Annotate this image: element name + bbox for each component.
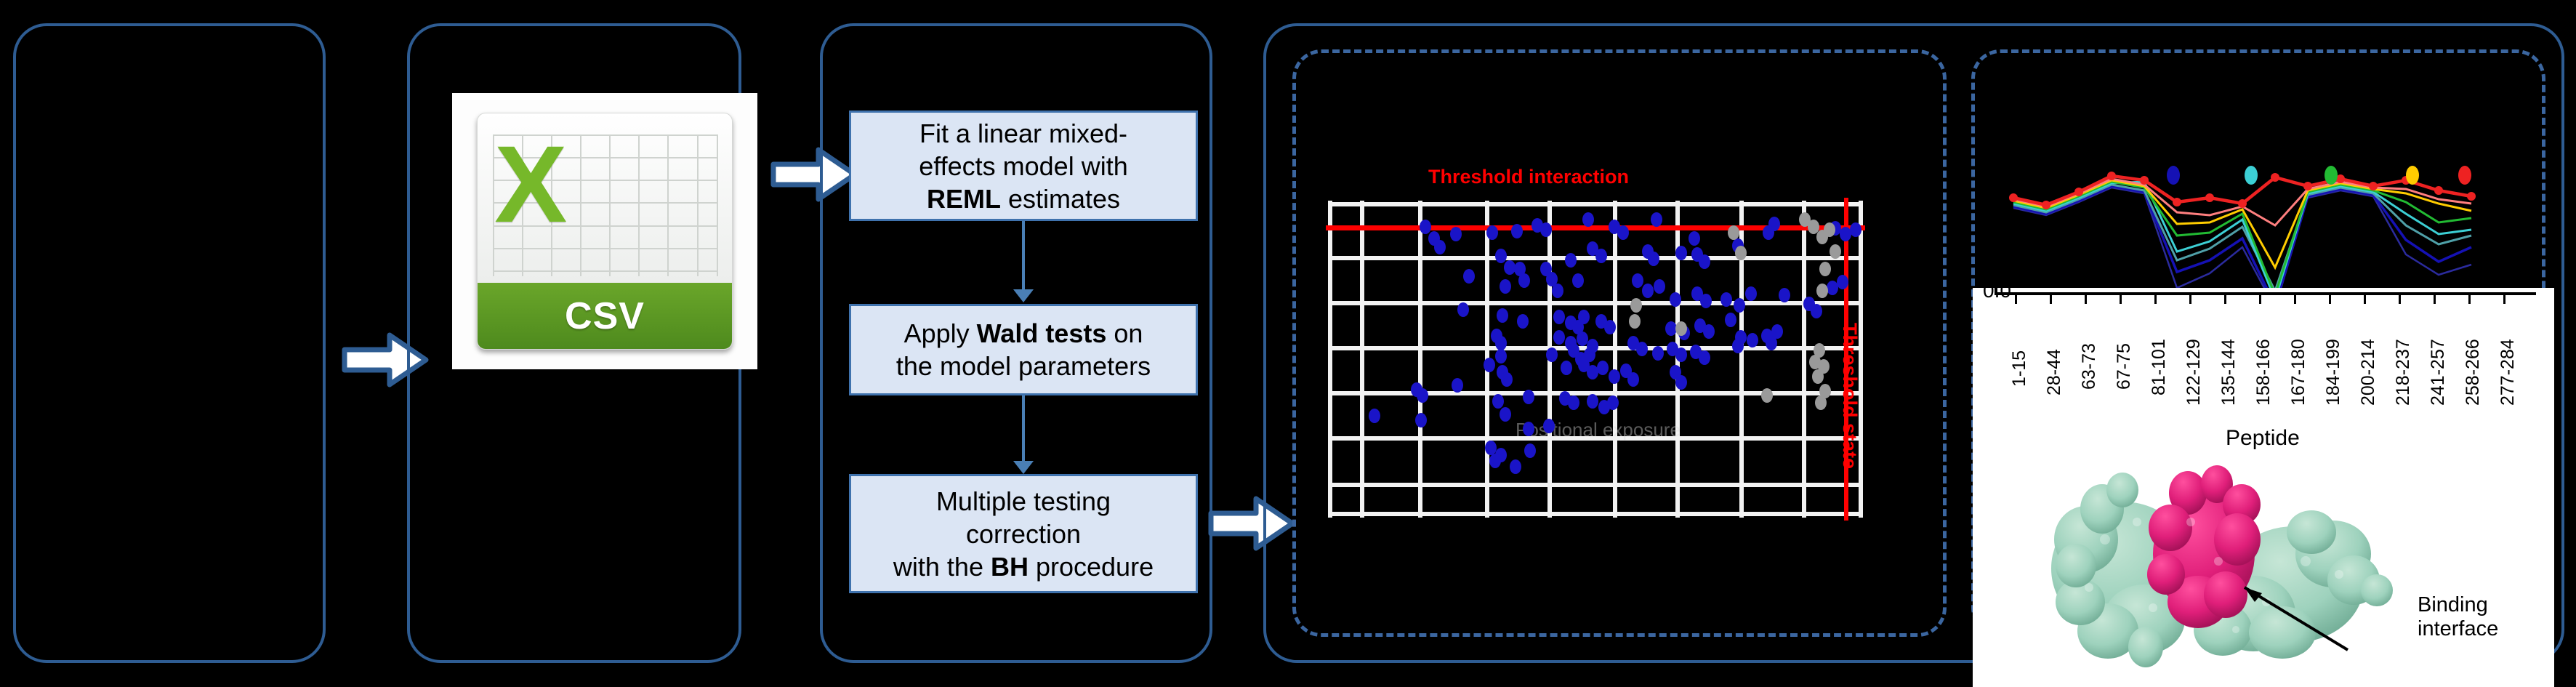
step-model-box[interactable]: Fit a linear mixed- effects model with R… (849, 111, 1198, 221)
binding-interface-line2: interface (2418, 617, 2498, 641)
x-axis-title: Peptide (2226, 426, 2300, 451)
x-tick-label: 67-75 (2114, 343, 2135, 390)
step-model-line1: Fit a linear mixed- (919, 117, 1127, 150)
y-axis-stub (1995, 288, 1997, 294)
legend-dot-2 (2245, 166, 2258, 185)
step-correction-line2: correction (966, 518, 1081, 550)
csv-file-card: X CSV (452, 93, 757, 369)
step-wald-pre: Apply (904, 318, 977, 348)
x-axis-line (1995, 292, 2536, 295)
binding-interface-line1: Binding (2418, 593, 2498, 617)
step-model-estimates: estimates (1001, 184, 1120, 214)
legend-dot-5 (2458, 166, 2471, 185)
x-tick-label: 167-180 (2288, 339, 2309, 406)
step-model-line3: REML estimates (927, 182, 1120, 215)
step-wald-post: on (1106, 318, 1143, 348)
x-tick-label: 184-199 (2323, 339, 2344, 406)
csv-format-label: CSV (478, 283, 733, 349)
csv-file-icon: X CSV (477, 113, 733, 350)
x-tick-label: 1-15 (2009, 350, 2030, 387)
legend-dot-3 (2325, 166, 2338, 185)
scatter-plot-area: Positional exposure (1328, 201, 1863, 518)
protein-peptide-surface-render (2035, 452, 2413, 670)
x-tick-label: 63-73 (2079, 343, 2100, 390)
threshold-interaction-line (1326, 225, 1865, 230)
step-model-line2: effects model with (919, 150, 1127, 182)
x-tick-label: 241-257 (2428, 339, 2449, 406)
x-tick-label: 158-166 (2253, 339, 2274, 406)
step-correction-box[interactable]: Multiple testing correction with the BH … (849, 474, 1198, 593)
x-tick-label: 258-266 (2463, 339, 2484, 406)
step-wald-line1: Apply Wald tests on (904, 317, 1143, 350)
step-correction-line1: Multiple testing (936, 485, 1111, 518)
legend-dot-1 (2167, 166, 2180, 185)
workflow-diagram: X CSV Fit a linear mixed- effects model … (0, 0, 2576, 687)
step-correction-bold: BH (991, 552, 1029, 582)
volcano-scatter-plot: Positional exposure (1328, 201, 1863, 518)
step-wald-box[interactable]: Apply Wald tests on the model parameters (849, 304, 1198, 395)
panel-input (13, 23, 326, 663)
threshold-state-label: Threshold state (1838, 323, 1861, 469)
excel-x-glyph: X (488, 127, 574, 241)
peptide-axis-structure-plate: 0.0 1-15 28-44 63-73 67-75 81-101 122-12… (1973, 288, 2554, 687)
x-tick-label: 135-144 (2218, 339, 2239, 406)
x-tick-label: 28-44 (2044, 349, 2065, 395)
connector-2 (1022, 395, 1025, 465)
connector-1 (1022, 221, 1025, 294)
connector-2-head (1013, 461, 1034, 474)
step-model-reml: REML (927, 184, 1001, 214)
step-correction-line3: with the BH procedure (893, 550, 1154, 583)
step-wald-line2: the model parameters (896, 350, 1151, 382)
step-wald-bold: Wald tests (977, 318, 1107, 348)
x-tick-label: 277-284 (2497, 339, 2519, 406)
scatter-ghost-label: Positional exposure (1516, 419, 1681, 441)
connector-1-head (1013, 289, 1034, 302)
x-tick-label: 122-129 (2183, 339, 2205, 406)
step-correction-post: procedure (1029, 552, 1154, 582)
x-tick-label: 81-101 (2149, 339, 2170, 395)
x-tick-label: 200-214 (2358, 339, 2379, 406)
threshold-interaction-label: Threshold interaction (1428, 166, 1629, 188)
legend-dot-4 (2406, 166, 2419, 185)
x-tick-label: 218-237 (2393, 339, 2414, 406)
binding-interface-annotation: Binding interface (2418, 593, 2498, 642)
step-correction-pre: with the (893, 552, 991, 582)
